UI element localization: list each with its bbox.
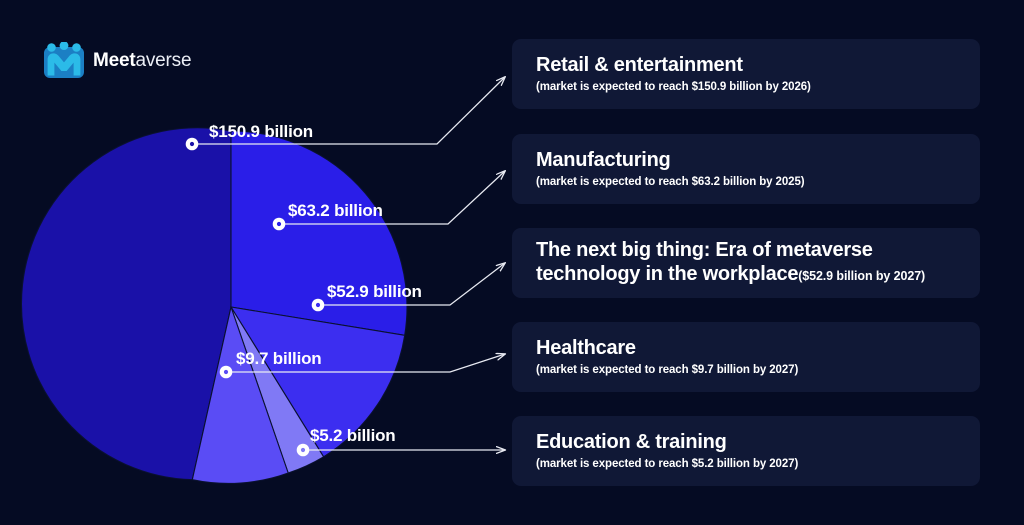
card-title-metaverse-workplace: The next big thing: Era of metaverse tec… <box>536 239 956 286</box>
info-card-manufacturing[interactable]: Manufacturing (market is expected to rea… <box>512 134 980 204</box>
callout-dot-inner-metaverse-workplace <box>316 303 320 307</box>
card-title-healthcare: Healthcare <box>536 337 956 361</box>
pie-value-label-retail-entertainment: $150.9 billion <box>209 123 313 140</box>
callout-dot-inner-education-training <box>301 448 305 452</box>
info-card-healthcare[interactable]: Healthcare (market is expected to reach … <box>512 322 980 392</box>
info-card-education-training[interactable]: Education & training (market is expected… <box>512 416 980 486</box>
card-title-education-training: Education & training <box>536 431 956 455</box>
info-card-metaverse-workplace[interactable]: The next big thing: Era of metaverse tec… <box>512 228 980 298</box>
callout-dot-inner-healthcare <box>224 370 228 374</box>
callout-dot-inner-retail-entertainment <box>190 142 194 146</box>
card-subtitle-healthcare: (market is expected to reach $9.7 billio… <box>536 363 956 377</box>
card-subtitle-education-training: (market is expected to reach $5.2 billio… <box>536 457 956 471</box>
info-card-retail-entertainment[interactable]: Retail & entertainment (market is expect… <box>512 39 980 109</box>
card-title-retail-entertainment: Retail & entertainment <box>536 54 956 78</box>
pie-value-label-metaverse-workplace: $52.9 billion <box>327 283 422 300</box>
pie-slice-retail-entertainment[interactable] <box>21 128 231 480</box>
card-inline-subtitle-metaverse-workplace: ($52.9 billion by 2027) <box>798 269 925 283</box>
pie-value-label-manufacturing: $63.2 billion <box>288 202 383 219</box>
card-subtitle-retail-entertainment: (market is expected to reach $150.9 bill… <box>536 80 956 94</box>
infographic-canvas: Meetaverse <box>0 0 1024 525</box>
card-title-manufacturing: Manufacturing <box>536 149 956 173</box>
callout-dot-inner-manufacturing <box>277 222 281 226</box>
pie-value-label-education-training: $5.2 billion <box>310 427 395 444</box>
pie-value-label-healthcare: $9.7 billion <box>236 350 321 367</box>
card-subtitle-manufacturing: (market is expected to reach $63.2 billi… <box>536 175 956 189</box>
